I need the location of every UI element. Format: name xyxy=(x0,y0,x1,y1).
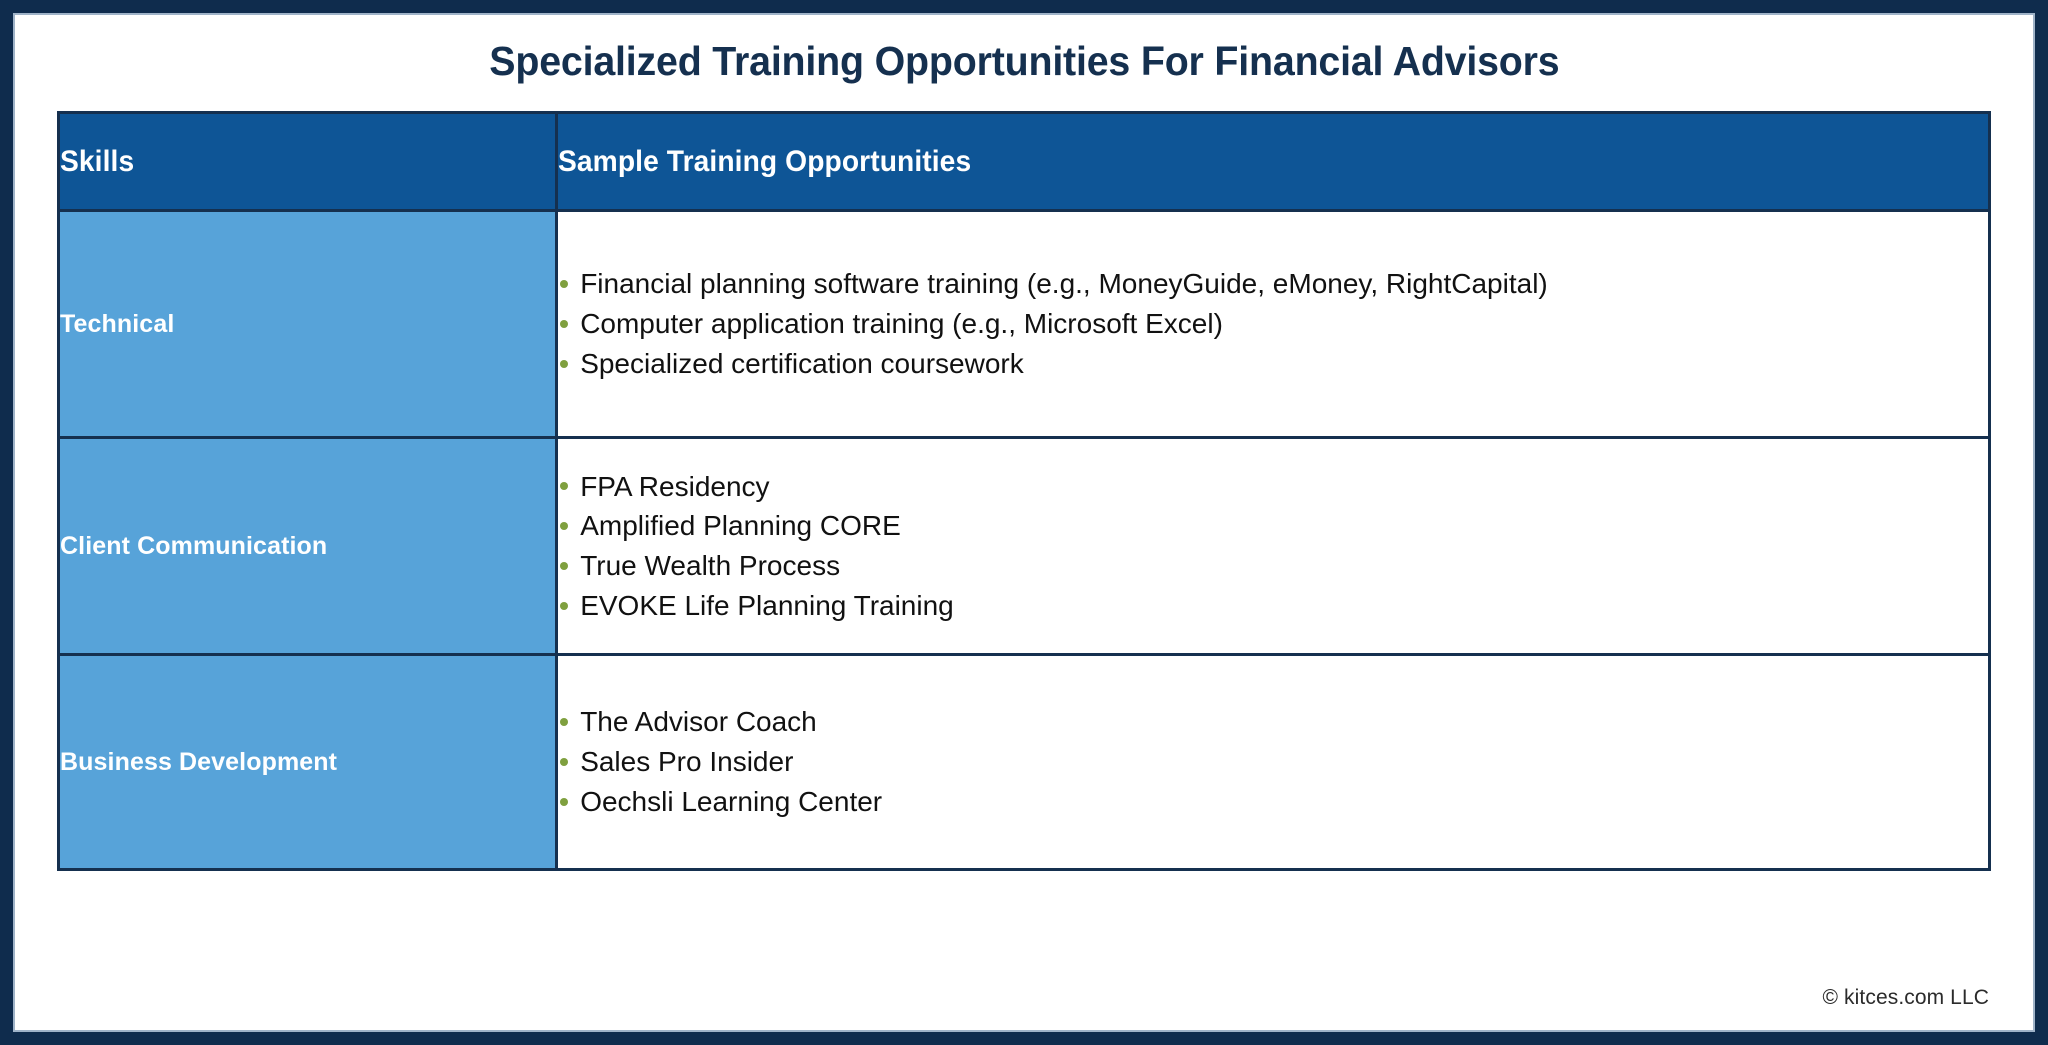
bullet-list-technical: Financial planning software training (e.… xyxy=(558,264,1988,383)
page-title: Specialized Training Opportunities For F… xyxy=(489,39,1559,84)
bullet-list-business-development: The Advisor Coach Sales Pro Insider Oech… xyxy=(558,702,1988,821)
opportunities-cell-technical: Financial planning software training (e.… xyxy=(557,211,1990,438)
list-item: True Wealth Process xyxy=(558,546,1988,586)
training-opportunities-table: Skills Sample Training Opportunities Tec… xyxy=(57,111,1991,871)
list-item: The Advisor Coach xyxy=(558,702,1988,742)
bullet-list-client-communication: FPA Residency Amplified Planning CORE Tr… xyxy=(558,467,1988,626)
list-item: EVOKE Life Planning Training xyxy=(558,586,1988,626)
column-header-opportunities: Sample Training Opportunities xyxy=(557,113,1990,211)
table-header: Skills Sample Training Opportunities xyxy=(59,113,1990,211)
column-header-skills: Skills xyxy=(59,113,557,211)
list-item: Specialized certification coursework xyxy=(558,344,1988,384)
table-body: Technical Financial planning software tr… xyxy=(59,211,1990,870)
title-bar: Specialized Training Opportunities For F… xyxy=(15,15,2033,94)
list-item: Amplified Planning CORE xyxy=(558,506,1988,546)
footer: © kitces.com LLC xyxy=(1823,986,1989,1010)
table-row: Business Development The Advisor Coach S… xyxy=(59,655,1990,870)
list-item: Financial planning software training (e.… xyxy=(558,264,1988,304)
table-row: Technical Financial planning software tr… xyxy=(59,211,1990,438)
opportunities-cell-client-communication: FPA Residency Amplified Planning CORE Tr… xyxy=(557,438,1990,655)
list-item: Sales Pro Insider xyxy=(558,742,1988,782)
skill-label-client-communication: Client Communication xyxy=(59,438,557,655)
skill-label-technical: Technical xyxy=(59,211,557,438)
table-header-row: Skills Sample Training Opportunities xyxy=(59,113,1990,211)
copyright-credit: © kitces.com LLC xyxy=(1823,986,1989,1009)
page-frame: Specialized Training Opportunities For F… xyxy=(0,0,2048,1045)
list-item: FPA Residency xyxy=(558,467,1988,507)
training-table-container: Skills Sample Training Opportunities Tec… xyxy=(57,111,1991,871)
column-header-skills-label: Skills xyxy=(60,145,134,179)
opportunities-cell-business-development: The Advisor Coach Sales Pro Insider Oech… xyxy=(557,655,1990,870)
list-item: Computer application training (e.g., Mic… xyxy=(558,304,1988,344)
list-item: Oechsli Learning Center xyxy=(558,782,1988,822)
table-row: Client Communication FPA Residency Ampli… xyxy=(59,438,1990,655)
column-header-opportunities-label: Sample Training Opportunities xyxy=(558,145,971,179)
page-inner-canvas: Specialized Training Opportunities For F… xyxy=(13,13,2035,1032)
skill-label-business-development: Business Development xyxy=(59,655,557,870)
